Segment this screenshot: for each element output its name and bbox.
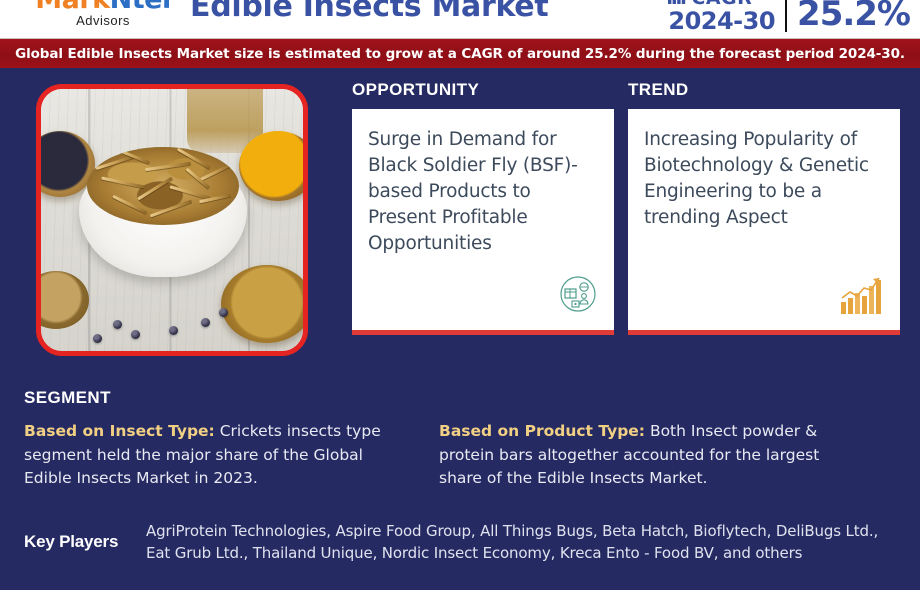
trend-card[interactable]: Increasing Popularity of Biotechnology &… [628,109,900,335]
opportunity-card[interactable]: Surge in Demand for Black Soldier Fly (B… [352,109,614,335]
segment-label: Based on Product Type: [439,422,645,440]
company-logo[interactable]: MarkNtel Advisors [28,0,178,27]
photo-berry [93,334,102,343]
photo-berry [131,330,140,339]
cagr-period: 2024-30 [668,9,775,33]
trend-column: TREND Increasing Popularity of Biotechno… [628,80,900,335]
summary-banner: Global Edible Insects Market size is est… [0,38,920,68]
header-bar: MarkNtel Advisors Edible Insects Market … [0,0,920,38]
page-title: Edible Insects Market [190,0,548,24]
photo-berry [219,308,228,317]
opportunity-column: OPPORTUNITY Surge in Demand for Black So… [352,80,614,335]
trend-text: Increasing Popularity of Biotechnology &… [644,127,884,231]
key-players-label: Key Players [24,532,146,552]
cagr-block: CAGR 2024-30 25.2% [668,0,910,33]
hero-photo [36,84,308,356]
segment-item-insect-type: Based on Insect Type: Crickets insects t… [24,420,409,491]
opportunity-heading: OPPORTUNITY [352,80,614,100]
photo-berry [201,318,210,327]
key-players-row: Key Players AgriProtein Technologies, As… [0,520,920,564]
photo-bowl-turmeric [239,131,308,201]
photo-berry [169,326,178,335]
trend-heading: TREND [628,80,900,100]
opportunity-text: Surge in Demand for Black Soldier Fly (B… [368,127,598,256]
segment-heading: SEGMENT [24,388,111,408]
cagr-divider [785,0,787,32]
photo-bowl-seeds [221,265,308,343]
trend-bar-chart-icon [840,276,884,314]
photo-berry [113,320,122,329]
cagr-value: 25.2% [797,0,910,31]
summary-banner-text: Global Edible Insects Market size is est… [15,46,905,62]
logo-wordmark: MarkNtel [28,0,178,13]
opportunity-globe-icon [558,274,598,314]
segment-body: Based on Insect Type: Crickets insects t… [0,420,920,491]
photo-background [41,89,303,351]
photo-insect-pile [87,147,239,225]
cagr-left-group: CAGR 2024-30 [668,0,775,33]
segment-item-product-type: Based on Product Type: Both Insect powde… [439,420,859,491]
logo-subtitle: Advisors [28,14,178,27]
segment-label: Based on Insect Type: [24,422,215,440]
key-players-list: AgriProtein Technologies, Aspire Food Gr… [146,520,896,564]
infographic-root: MarkNtel Advisors Edible Insects Market … [0,0,920,590]
